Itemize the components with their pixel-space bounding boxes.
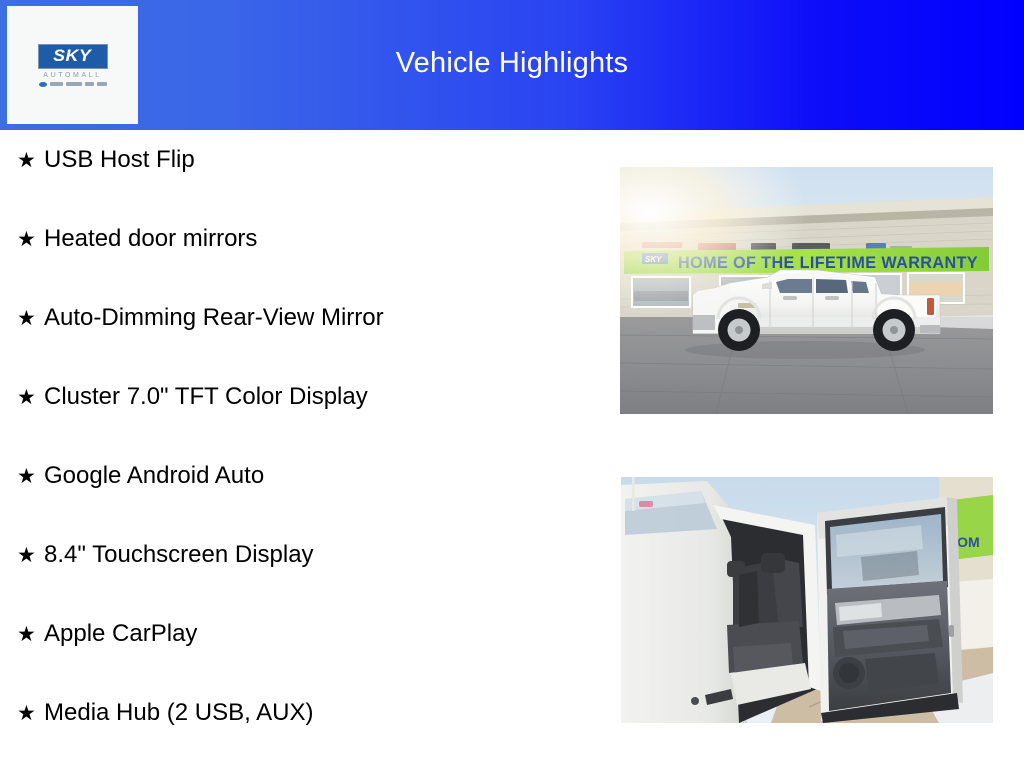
- slide: SKY AUTOMALL Vehicle Highlights ★ USB Ho…: [0, 0, 1024, 768]
- list-item-label: Google Android Auto: [44, 464, 264, 488]
- list-item-label: Media Hub (2 USB, AUX): [44, 701, 313, 725]
- list-item: ★ Heated door mirrors: [10, 227, 600, 306]
- list-item-label: 8.4" Touchscreen Display: [44, 543, 314, 567]
- jeep-brand-icon: [66, 82, 82, 86]
- vehicle-photo-exterior: SKY HOME OF THE LIFETIME WARRANTY: [620, 167, 993, 414]
- extra-brand-icon: [97, 82, 107, 86]
- list-item-label: USB Host Flip: [44, 148, 195, 172]
- list-item: ★ Apple CarPlay: [10, 622, 600, 701]
- page-title: Vehicle Highlights: [0, 47, 1024, 80]
- list-item-label: Heated door mirrors: [44, 227, 257, 251]
- star-icon: ★: [10, 229, 44, 250]
- interior-photo-graphic: HOM: [621, 477, 993, 723]
- list-item-label: Cluster 7.0" TFT Color Display: [44, 385, 368, 409]
- star-icon: ★: [10, 703, 44, 724]
- vehicle-highlights-list: ★ USB Host Flip ★ Heated door mirrors ★ …: [10, 148, 600, 768]
- chrysler-brand-icon: [39, 82, 47, 87]
- star-icon: ★: [10, 624, 44, 645]
- star-icon: ★: [10, 150, 44, 171]
- star-icon: ★: [10, 545, 44, 566]
- exterior-photo-graphic: SKY HOME OF THE LIFETIME WARRANTY: [620, 167, 993, 414]
- star-icon: ★: [10, 466, 44, 487]
- ram-brand-icon: [85, 82, 94, 86]
- vehicle-photo-interior: HOM: [621, 477, 993, 723]
- dodge-brand-icon: [50, 82, 63, 86]
- list-item: ★ Media Hub (2 USB, AUX): [10, 701, 600, 768]
- list-item: ★ 8.4" Touchscreen Display: [10, 543, 600, 622]
- list-item: ★ Google Android Auto: [10, 464, 600, 543]
- list-item-label: Auto-Dimming Rear-View Mirror: [44, 306, 384, 330]
- logo-brand-strip: [39, 82, 107, 87]
- list-item: ★ USB Host Flip: [10, 148, 600, 227]
- star-icon: ★: [10, 308, 44, 329]
- star-icon: ★: [10, 387, 44, 408]
- list-item-label: Apple CarPlay: [44, 622, 197, 646]
- list-item: ★ Cluster 7.0" TFT Color Display: [10, 385, 600, 464]
- slide-header: SKY AUTOMALL Vehicle Highlights: [0, 0, 1024, 130]
- list-item: ★ Auto-Dimming Rear-View Mirror: [10, 306, 600, 385]
